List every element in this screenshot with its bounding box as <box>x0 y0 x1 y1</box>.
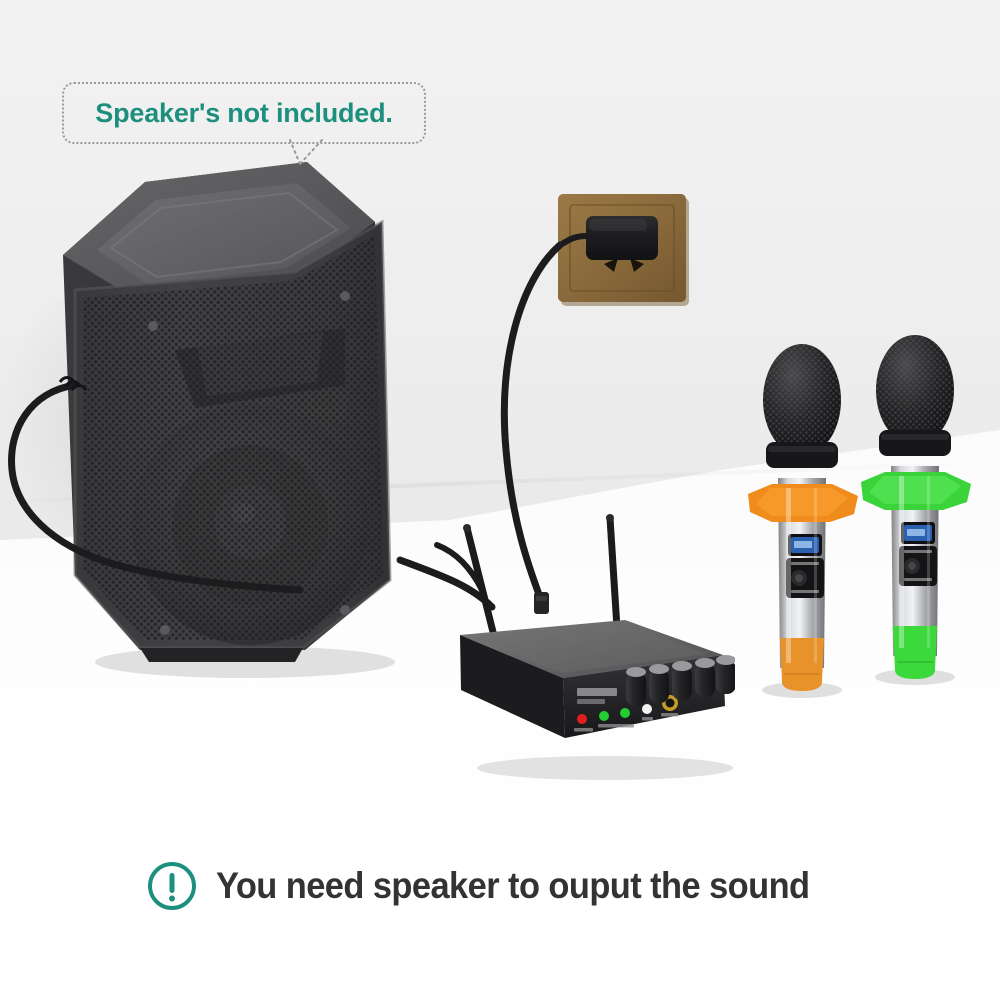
callout-text: Speaker's not included. <box>95 98 392 129</box>
speaker-screw <box>340 605 350 615</box>
label-af <box>642 717 653 721</box>
wireless-receiver[interactable] <box>455 510 735 785</box>
handheld-microphone-green[interactable] <box>855 330 983 685</box>
led-af <box>642 704 652 714</box>
handheld-microphone-orange[interactable] <box>742 338 870 698</box>
speaker-screw <box>160 625 170 635</box>
antenna-right <box>610 518 617 628</box>
mic-head-collar <box>766 442 838 468</box>
callout-bubble: Speaker's not included. <box>62 82 426 144</box>
caption-band <box>0 925 1000 1000</box>
speaker-foot <box>140 648 303 662</box>
receiver-antennas <box>463 514 617 632</box>
speaker-screw <box>340 291 350 301</box>
pa-speaker <box>45 150 435 680</box>
knob-1 <box>626 667 646 706</box>
label-mic <box>661 713 678 717</box>
mic-head-collar <box>879 430 951 456</box>
label-a-mic-b <box>598 724 634 728</box>
caption-text: You need speaker to ouput the sound <box>216 865 810 907</box>
bottom-caption: You need speaker to ouput the sound <box>0 846 1000 926</box>
label-power <box>574 728 593 732</box>
speaker-screw <box>148 321 158 331</box>
knob-2 <box>649 664 669 703</box>
speaker-grille-mesh <box>83 235 383 640</box>
callout-tail-icon <box>288 138 324 168</box>
knob-3 <box>672 661 692 700</box>
led-mic-b <box>620 708 630 718</box>
knob-4 <box>695 658 715 697</box>
led-power <box>577 714 587 724</box>
wall-outlet[interactable] <box>556 192 696 314</box>
exclamation-circle-icon <box>146 860 198 912</box>
led-a <box>599 711 609 721</box>
product-infographic-scene: Speaker's not included. You need speaker… <box>0 0 1000 1000</box>
antenna-left <box>467 528 493 632</box>
knob-5 <box>716 655 735 694</box>
